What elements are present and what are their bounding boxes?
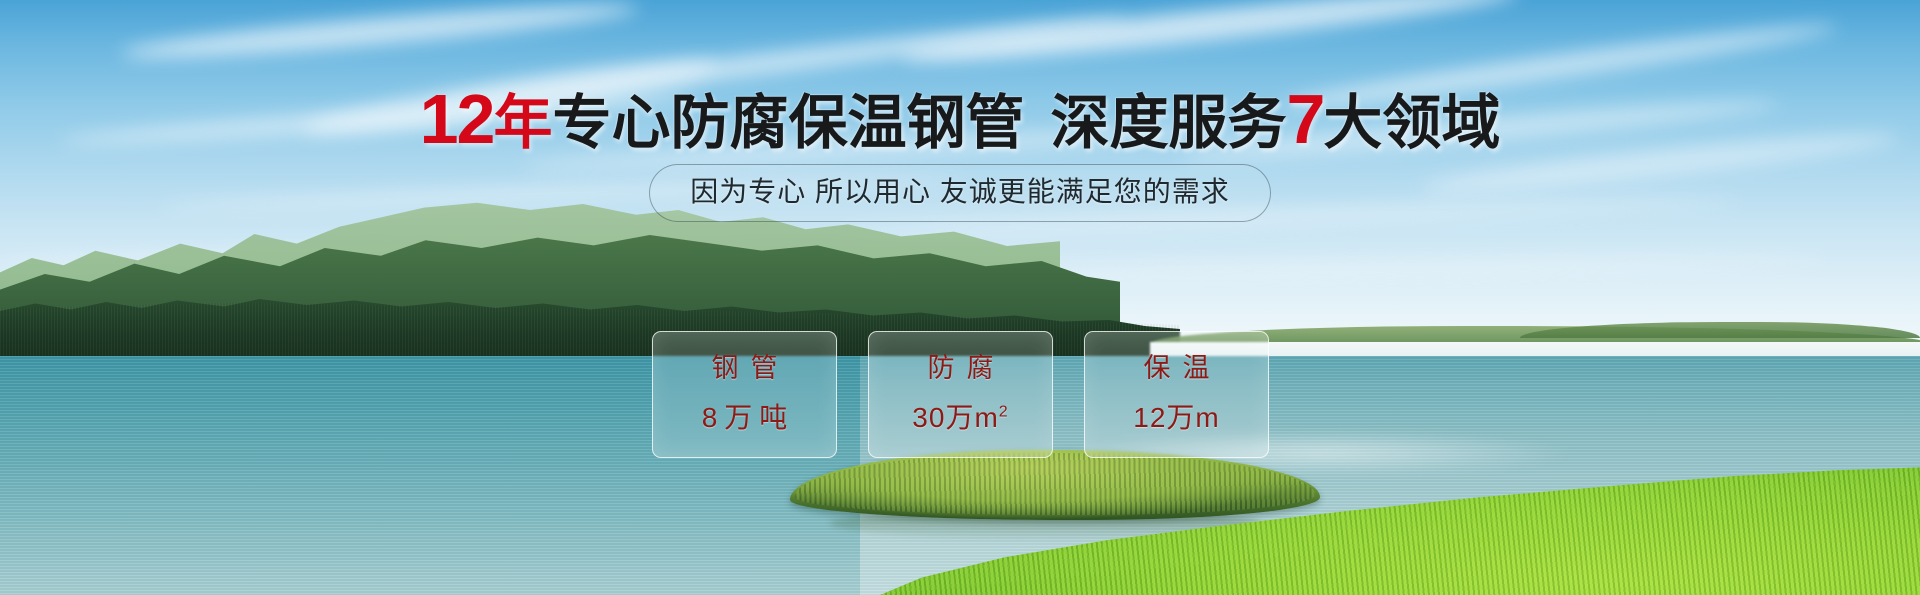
stat-card-value-text: 8万吨 (702, 402, 795, 433)
stat-card-title: 保温 (1132, 352, 1222, 384)
promo-banner: 12年专心防腐保温钢管深度服务7大领域 因为专心 所以用心 友诚更能满足您的需求… (0, 0, 1920, 595)
stat-card-value: 12万m (1133, 401, 1219, 435)
banner-headline: 12年专心防腐保温钢管深度服务7大领域 (0, 88, 1920, 154)
stat-card-value: 8万吨 (695, 401, 795, 435)
stat-card-value: 30万m2 (912, 401, 1008, 435)
stat-card-title: 钢管 (700, 352, 790, 384)
headline-part-1: 专心防腐保温钢管 (552, 90, 1024, 156)
stat-card-value-text: 30万m (912, 402, 998, 433)
headline-years-number: 12 (420, 80, 494, 158)
stat-card-steel-pipe[interactable]: 钢管 8万吨 (652, 331, 837, 458)
stat-card-value-text: 12万m (1133, 402, 1219, 433)
headline-years-unit: 年 (493, 90, 552, 156)
headline-part-3: 大领域 (1323, 90, 1500, 156)
headline-part-2: 深度服务 (1050, 90, 1286, 156)
stat-card-value-superscript: 2 (999, 404, 1009, 421)
headline-highlight-number: 7 (1286, 80, 1323, 158)
stat-card-anticorrosion[interactable]: 防腐 30万m2 (868, 331, 1053, 458)
stat-card-title: 防腐 (916, 352, 1006, 384)
stat-card-group: 钢管 8万吨 防腐 30万m2 保温 12万m (652, 331, 1270, 458)
banner-subtitle: 因为专心 所以用心 友诚更能满足您的需求 (649, 164, 1271, 222)
stat-card-insulation[interactable]: 保温 12万m (1084, 331, 1269, 458)
banner-subtitle-wrap: 因为专心 所以用心 友诚更能满足您的需求 (0, 164, 1920, 222)
